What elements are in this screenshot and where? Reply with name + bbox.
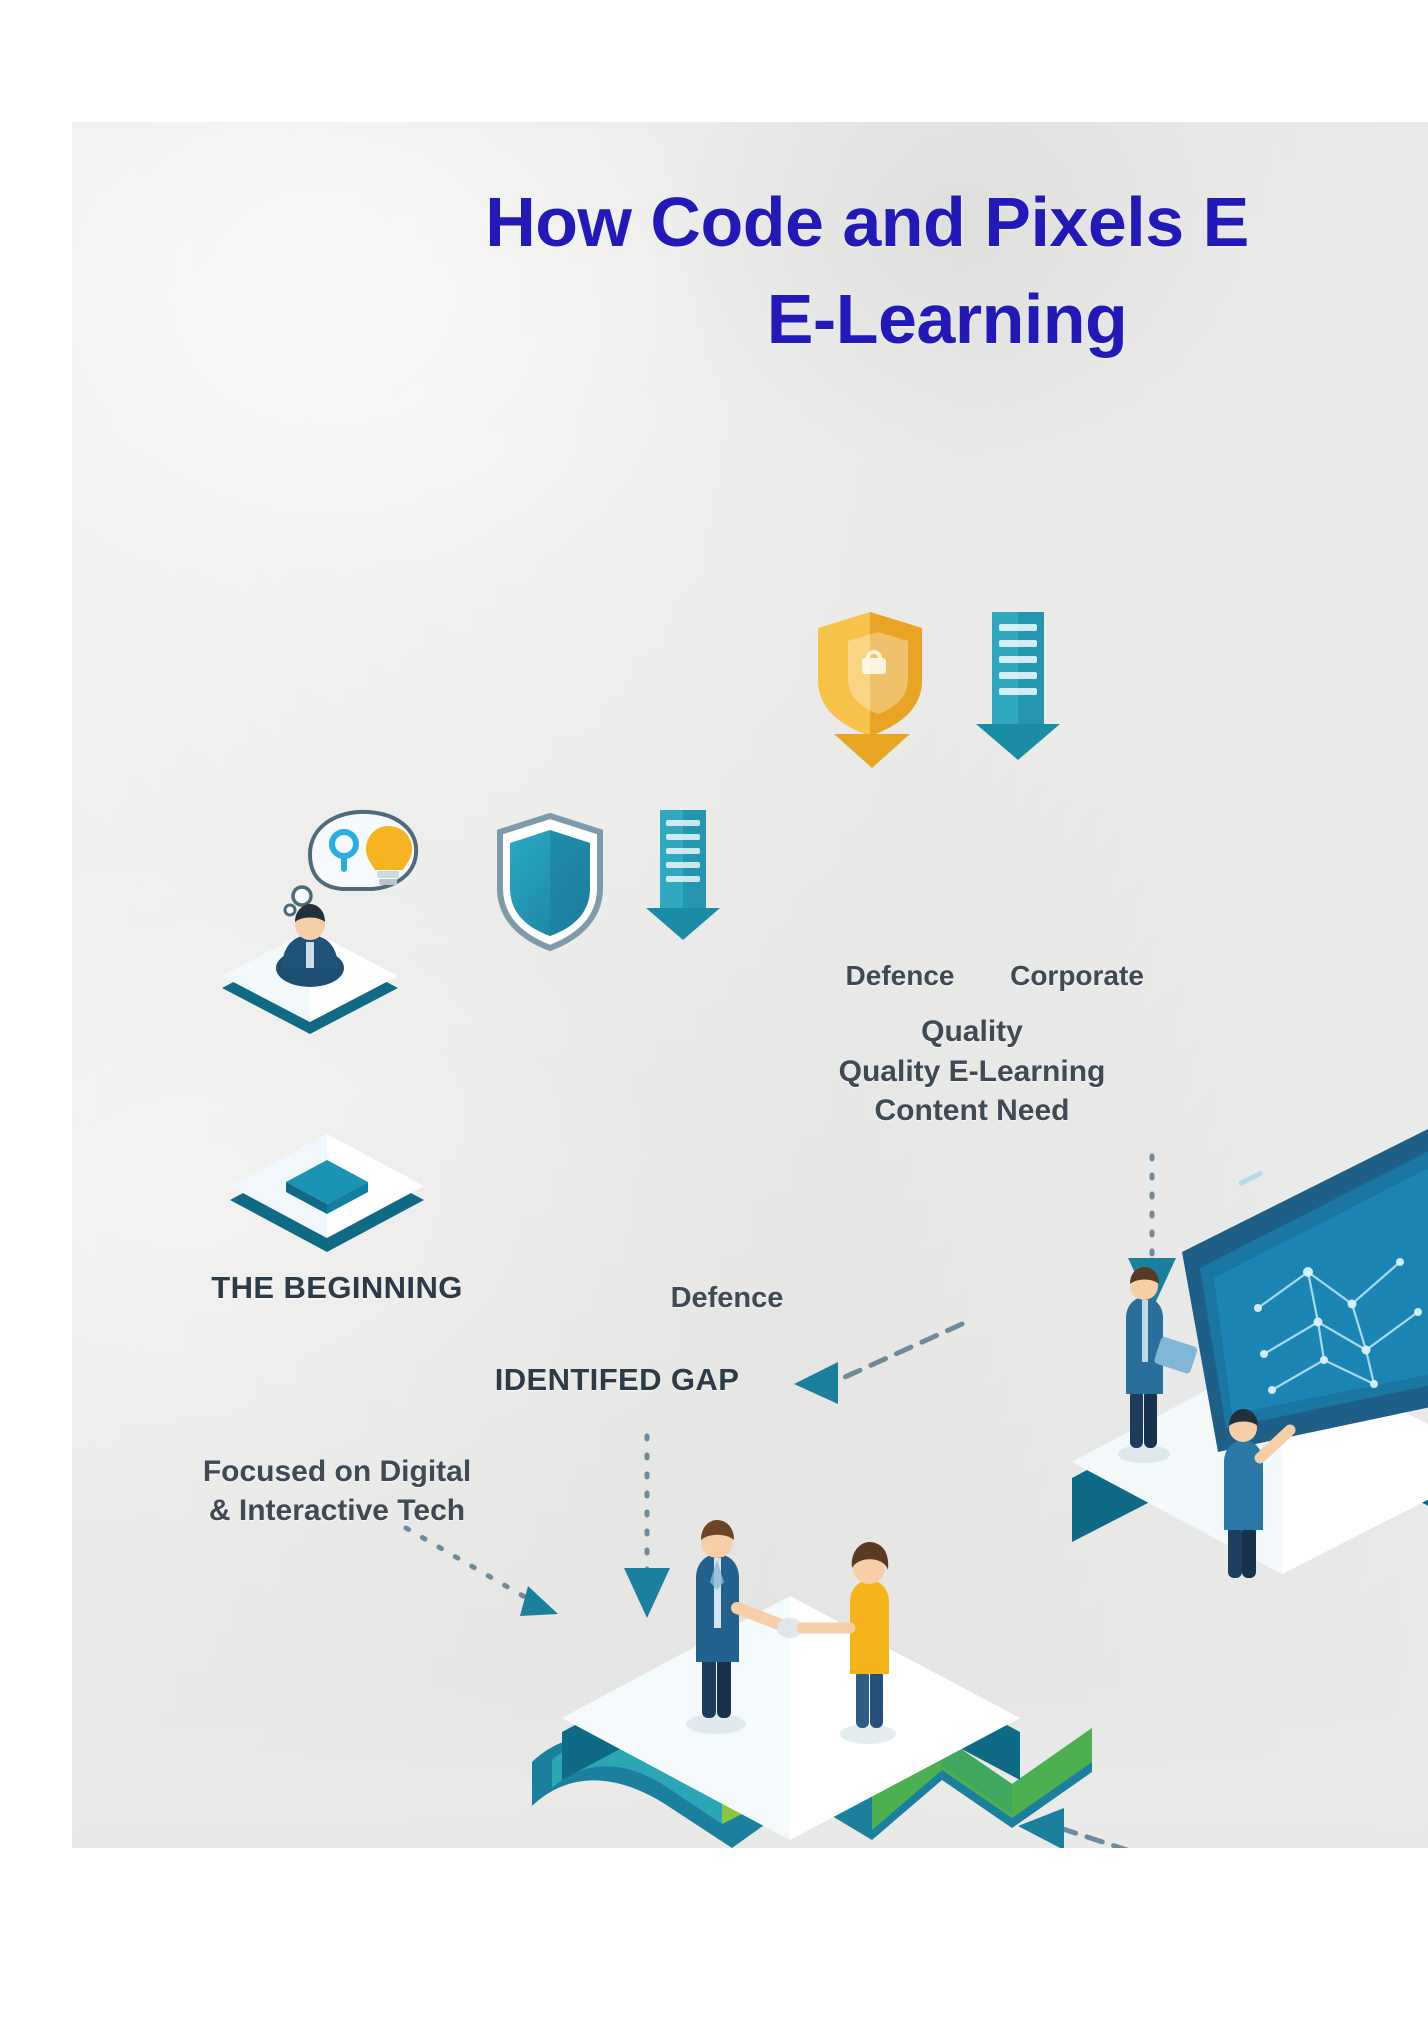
stage-focus-illustration (212, 1072, 442, 1272)
title-line-2: E-Learning (72, 271, 1428, 368)
stage-need-label: Quality Quality E-Learning Content Need (742, 1012, 1202, 1131)
title-line-1: How Code and Pixels E (72, 174, 1428, 271)
connector-arrow-gap-to-meeting (602, 1432, 692, 1632)
stage-gap-sublabel: Defence (617, 1282, 837, 1315)
gold-shield-icon (818, 612, 922, 768)
stage-beginning-label: THE BEGINNING (172, 1270, 502, 1306)
sector-label-corporate: Corporate (977, 960, 1177, 992)
person-idea-lightbulb-icon (202, 792, 452, 1052)
stage-delivery-illustration (1032, 1122, 1428, 1642)
connector-arrow-focus-to-meeting (402, 1522, 582, 1642)
teal-building-icon (976, 612, 1060, 760)
building-icon (646, 810, 720, 940)
sector-label-defence: Defence (810, 960, 990, 992)
screenshot-canvas: How Code and Pixels E E-Learning (0, 0, 1428, 2018)
stage-gap-illustration (492, 802, 762, 1002)
stage-need-illustration (812, 602, 1112, 812)
stage-beginning-illustration (202, 792, 452, 1052)
cube-platform-icon (212, 1072, 442, 1272)
infographic-slide: How Code and Pixels E E-Learning (72, 122, 1428, 1848)
connector-arrow-path-to-meeting (932, 1782, 1192, 1848)
stage-gap-label: IDENTIFED GAP (452, 1362, 782, 1398)
shield-icon (500, 816, 600, 948)
stage-focus-label: Focused on Digital & Interactive Tech (167, 1452, 507, 1530)
page-title: How Code and Pixels E E-Learning (72, 174, 1428, 367)
monitor-network-icon (1032, 1122, 1428, 1642)
